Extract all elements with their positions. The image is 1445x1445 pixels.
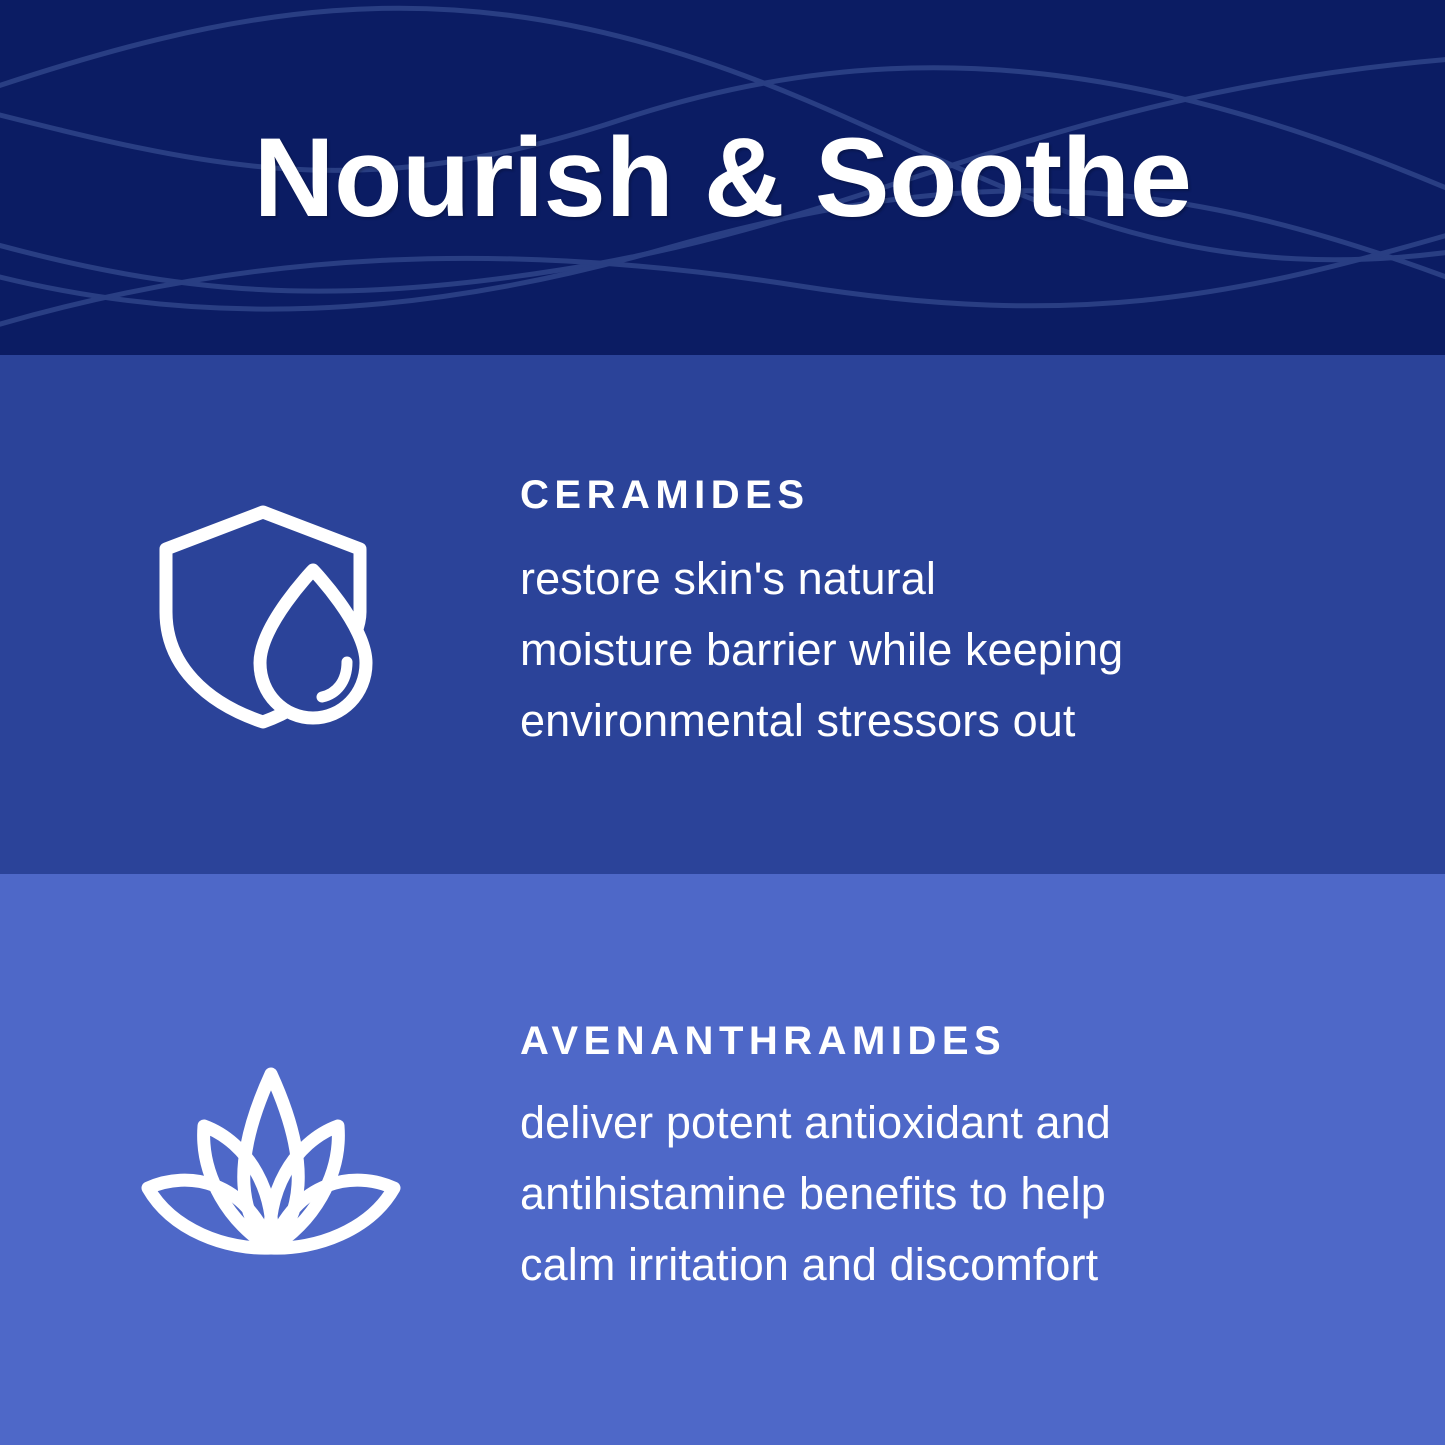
avenanthramides-description-line-2: antihistamine benefits to help bbox=[520, 1158, 1365, 1229]
ceramides-icon-container bbox=[0, 500, 520, 730]
avenanthramides-heading: AVENANTHRAMIDES bbox=[520, 1019, 1365, 1063]
avenanthramides-description-line-1: deliver potent antioxidant and bbox=[520, 1087, 1365, 1158]
ingredient-benefits-infographic: Nourish & Soothe CERAMIDES restore skin'… bbox=[0, 0, 1445, 1445]
section-avenanthramides: AVENANTHRAMIDES deliver potent antioxida… bbox=[0, 874, 1445, 1445]
avenanthramides-text-block: AVENANTHRAMIDES deliver potent antioxida… bbox=[520, 1019, 1445, 1300]
ceramides-description-line-3: environmental stressors out bbox=[520, 685, 1365, 756]
shield-droplet-icon bbox=[150, 500, 400, 730]
ceramides-description-line-1: restore skin's natural bbox=[520, 543, 1365, 614]
avenanthramides-description: deliver potent antioxidant and antihista… bbox=[520, 1087, 1365, 1300]
ceramides-description-line-2: moisture barrier while keeping bbox=[520, 614, 1365, 685]
ceramides-text-block: CERAMIDES restore skin's natural moistur… bbox=[520, 473, 1445, 756]
header-banner: Nourish & Soothe bbox=[0, 0, 1445, 355]
ceramides-description: restore skin's natural moisture barrier … bbox=[520, 543, 1365, 756]
avenanthramides-description-line-3: calm irritation and discomfort bbox=[520, 1229, 1365, 1300]
section-ceramides: CERAMIDES restore skin's natural moistur… bbox=[0, 355, 1445, 874]
lotus-flower-icon bbox=[126, 1052, 416, 1267]
ceramides-heading: CERAMIDES bbox=[520, 473, 1365, 517]
page-title: Nourish & Soothe bbox=[0, 0, 1445, 355]
avenanthramides-icon-container bbox=[0, 1052, 520, 1267]
